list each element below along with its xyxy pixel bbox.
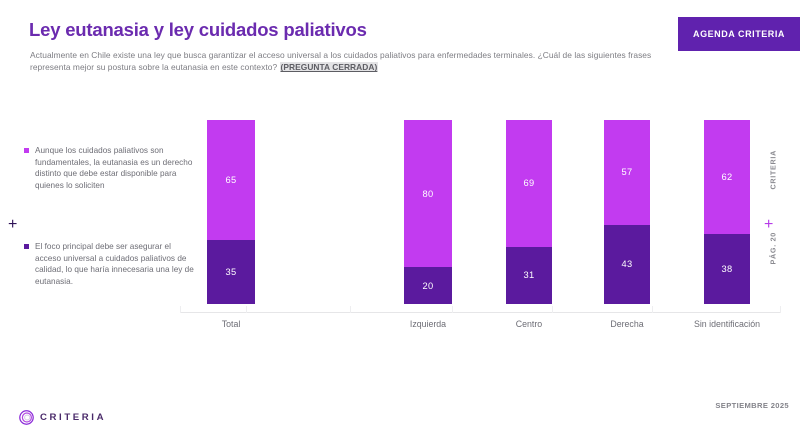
bar-segment-light[interactable]: 69 [506, 120, 552, 247]
bar-value-label: 69 [524, 178, 535, 188]
plus-decoration-left-icon: + [8, 217, 17, 233]
bar-stack[interactable]: 8020 [404, 120, 452, 304]
bar-value-label: 20 [423, 281, 434, 291]
category-label: Total [177, 319, 285, 329]
category-label: Izquierda [374, 319, 482, 329]
bar-segment-light[interactable]: 80 [404, 120, 452, 267]
slide-canvas: Ley eutanasia y ley cuidados paliativos … [0, 0, 800, 443]
footer-date-label: SEPTIEMBRE 2025 [715, 401, 789, 410]
axis-tick-4 [552, 306, 553, 313]
stacked-bar-chart: 65358020693157436238 TotalIzquierdaCentr… [180, 120, 780, 335]
bar-group: 5743 [604, 120, 650, 304]
bar-stack[interactable]: 6535 [207, 120, 255, 304]
bar-group: 6931 [506, 120, 552, 304]
bar-group: 6238 [704, 120, 750, 304]
axis-tick-2 [350, 306, 351, 313]
page-title: Ley eutanasia y ley cuidados paliativos [29, 19, 367, 41]
bar-value-label: 35 [226, 267, 237, 277]
criteria-logo: CRITERIA [19, 410, 106, 425]
bar-value-label: 38 [722, 264, 733, 274]
bar-segment-dark[interactable]: 38 [704, 234, 750, 304]
bar-group: 8020 [404, 120, 452, 304]
bar-segment-dark[interactable]: 31 [506, 247, 552, 304]
axis-tick-3 [452, 306, 453, 313]
legend-label-option-2: El foco principal debe ser asegurar el a… [35, 242, 194, 286]
agenda-criteria-badge[interactable]: AGENDA CRITERIA [678, 17, 800, 51]
criteria-wordmark: CRITERIA [40, 412, 106, 423]
category-label: Derecha [574, 319, 680, 329]
bar-group: 6535 [207, 120, 255, 304]
bar-stack[interactable]: 6931 [506, 120, 552, 304]
chart-x-axis-line [180, 312, 780, 313]
bar-value-label: 31 [524, 270, 535, 280]
axis-tick-1 [246, 306, 247, 313]
question-subtitle: Actualmente en Chile existe una ley que … [30, 49, 670, 74]
legend-swatch-icon-dark [24, 244, 29, 249]
category-label: Centro [476, 319, 582, 329]
bar-value-label: 43 [622, 259, 633, 269]
bar-value-label: 57 [622, 167, 633, 177]
question-type-badge: (PREGUNTA CERRADA) [280, 62, 379, 72]
axis-tick-5 [652, 306, 653, 313]
axis-tick-6 [780, 306, 781, 313]
bar-stack[interactable]: 5743 [604, 120, 650, 304]
category-label: Sin identificación [674, 319, 780, 329]
bar-value-label: 65 [226, 175, 237, 185]
criteria-spiral-icon [19, 410, 34, 425]
slide-header: Ley eutanasia y ley cuidados paliativos … [0, 0, 800, 84]
legend-swatch-icon-light [24, 148, 29, 153]
chart-plot-area [180, 128, 780, 312]
bar-segment-dark[interactable]: 43 [604, 225, 650, 304]
legend-item-option-2[interactable]: El foco principal debe ser asegurar el a… [24, 241, 196, 287]
bar-segment-light[interactable]: 62 [704, 120, 750, 234]
slide-footer: CRITERIA SEPTIEMBRE 2025 [0, 395, 800, 443]
bar-stack[interactable]: 6238 [704, 120, 750, 304]
bar-value-label: 62 [722, 172, 733, 182]
bar-segment-dark[interactable]: 35 [207, 240, 255, 304]
bar-segment-light[interactable]: 57 [604, 120, 650, 225]
legend-label-option-1: Aunque los cuidados paliativos son funda… [35, 146, 192, 190]
axis-tick-0 [180, 306, 181, 313]
bar-segment-dark[interactable]: 20 [404, 267, 452, 304]
bar-value-label: 80 [423, 189, 434, 199]
bar-segment-light[interactable]: 65 [207, 120, 255, 240]
legend-item-option-1[interactable]: Aunque los cuidados paliativos son funda… [24, 145, 196, 191]
